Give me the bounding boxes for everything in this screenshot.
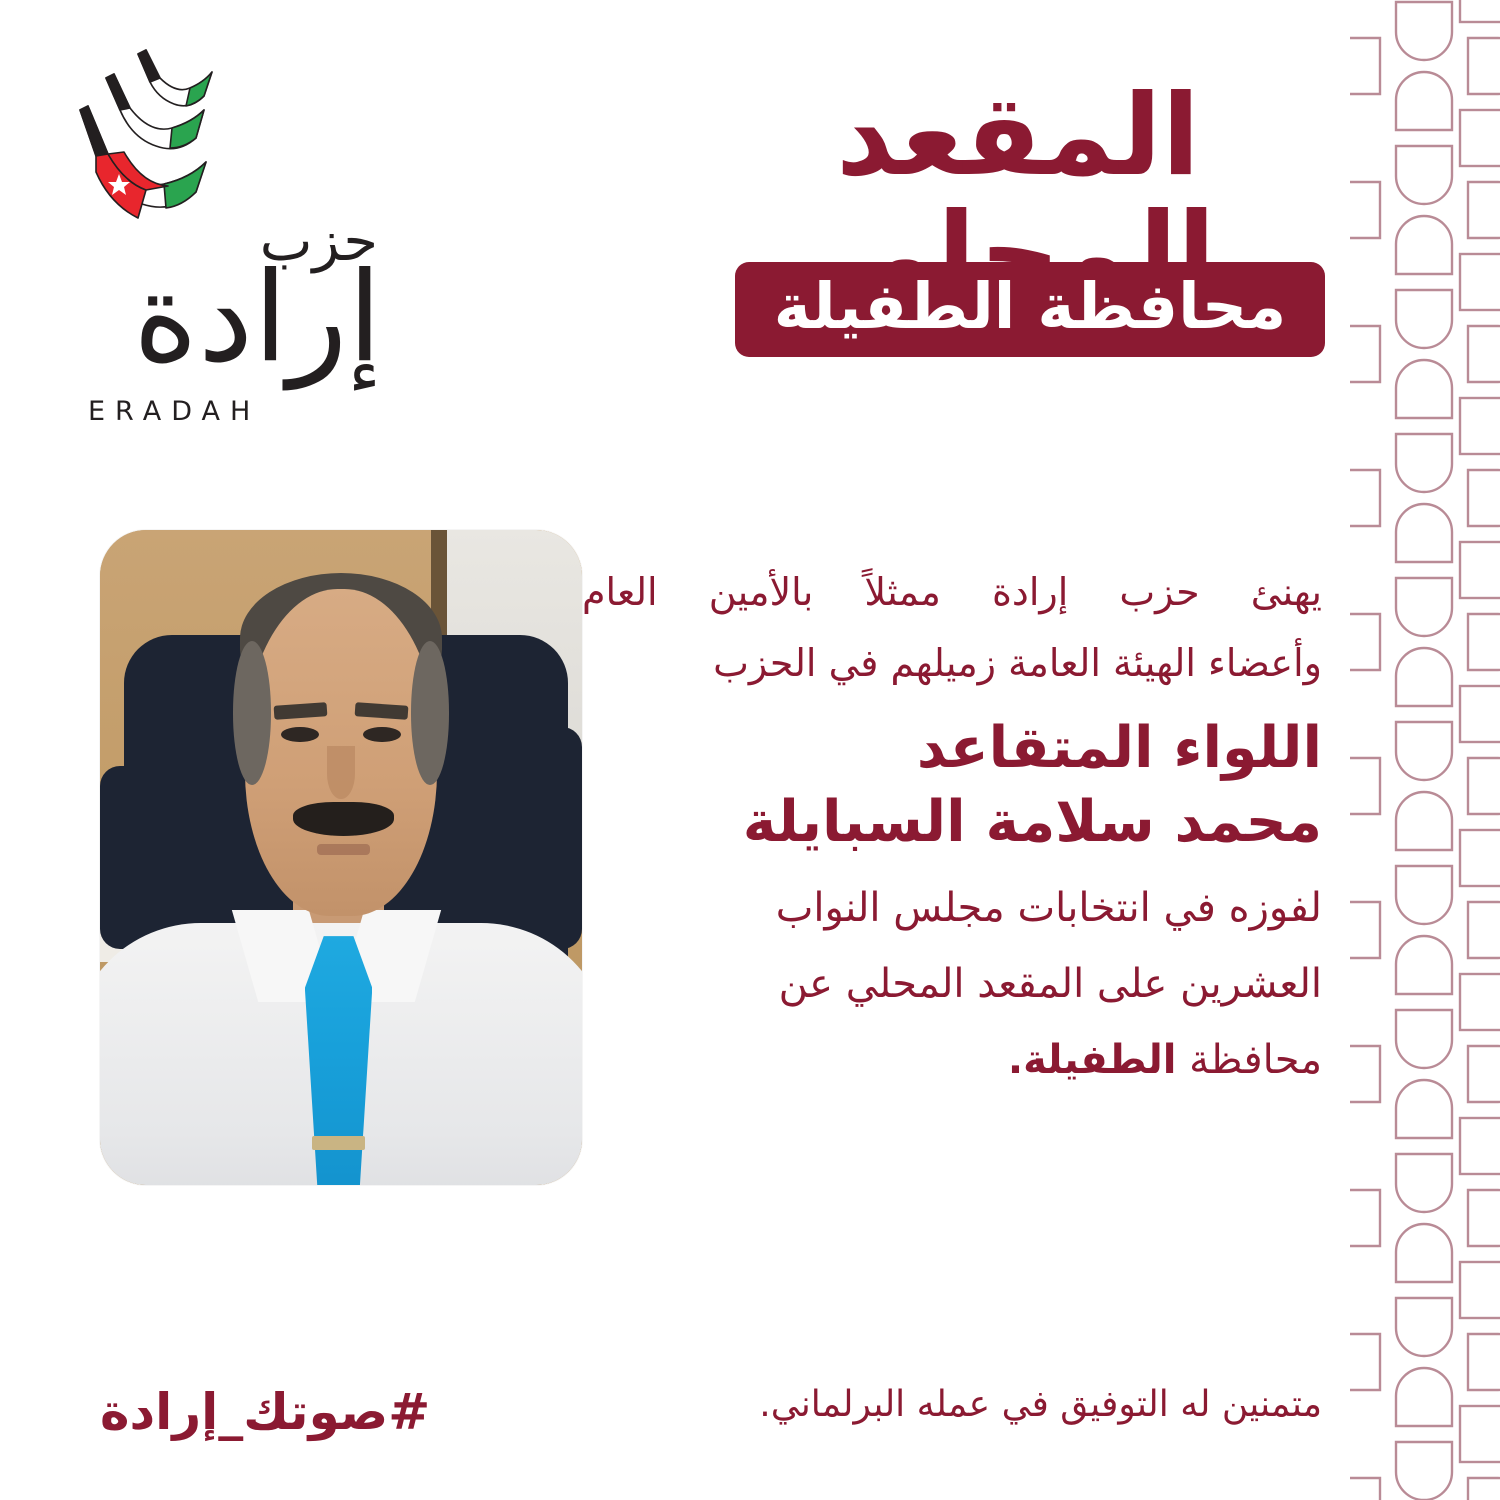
photo-eye-right: [363, 727, 402, 743]
photo-nose: [327, 746, 356, 798]
closing-wish: متمنين له التوفيق في عمله البرلماني.: [582, 1383, 1322, 1426]
message-reason-governorate: الطفيلة.: [1008, 1037, 1177, 1083]
governorate-badge: محافظة الطفيلة: [735, 262, 1325, 357]
logo-word-eradah: إرادة: [133, 256, 382, 380]
message-intro-line-2: وأعضاء الهيئة العامة زميلهم في الحزب: [582, 639, 1322, 688]
pattern-svg: [1350, 0, 1500, 1500]
message-reason-line-2: العشرين على المقعد المحلي عن: [582, 958, 1322, 1010]
honoree-rank: اللواء المتقاعد: [582, 715, 1322, 782]
decorative-pattern-strip: [1350, 0, 1500, 1500]
message-reason-line-1: لفوزه في انتخابات مجلس النواب: [582, 882, 1322, 934]
winner-portrait-photo: [100, 530, 582, 1185]
photo-hair-left: [233, 641, 272, 785]
message-intro-line-1: يهنئ حزب إرادة ممثلاً بالأمين العام: [582, 568, 1322, 617]
congratulation-message: يهنئ حزب إرادة ممثلاً بالأمين العام وأعض…: [582, 568, 1322, 1086]
party-logo: حزب إرادة ERADAH: [72, 48, 382, 408]
photo-mouth: [317, 844, 370, 854]
poster-canvas: حزب إرادة ERADAH المقعد المحلي محافظة ال…: [0, 0, 1500, 1500]
campaign-hashtag: #صوتك_إرادة: [100, 1382, 430, 1442]
message-reason-line-3: محافظة الطفيلة.: [582, 1034, 1322, 1086]
message-reason-plain: محافظة: [1176, 1037, 1322, 1083]
governorate-badge-label: محافظة الطفيلة: [774, 275, 1286, 338]
honoree-name: محمد سلامة السبايلة: [582, 789, 1322, 856]
logo-latin-name: ERADAH: [88, 396, 260, 427]
photo-tie-clip: [312, 1136, 365, 1150]
photo-moustache: [293, 802, 394, 836]
